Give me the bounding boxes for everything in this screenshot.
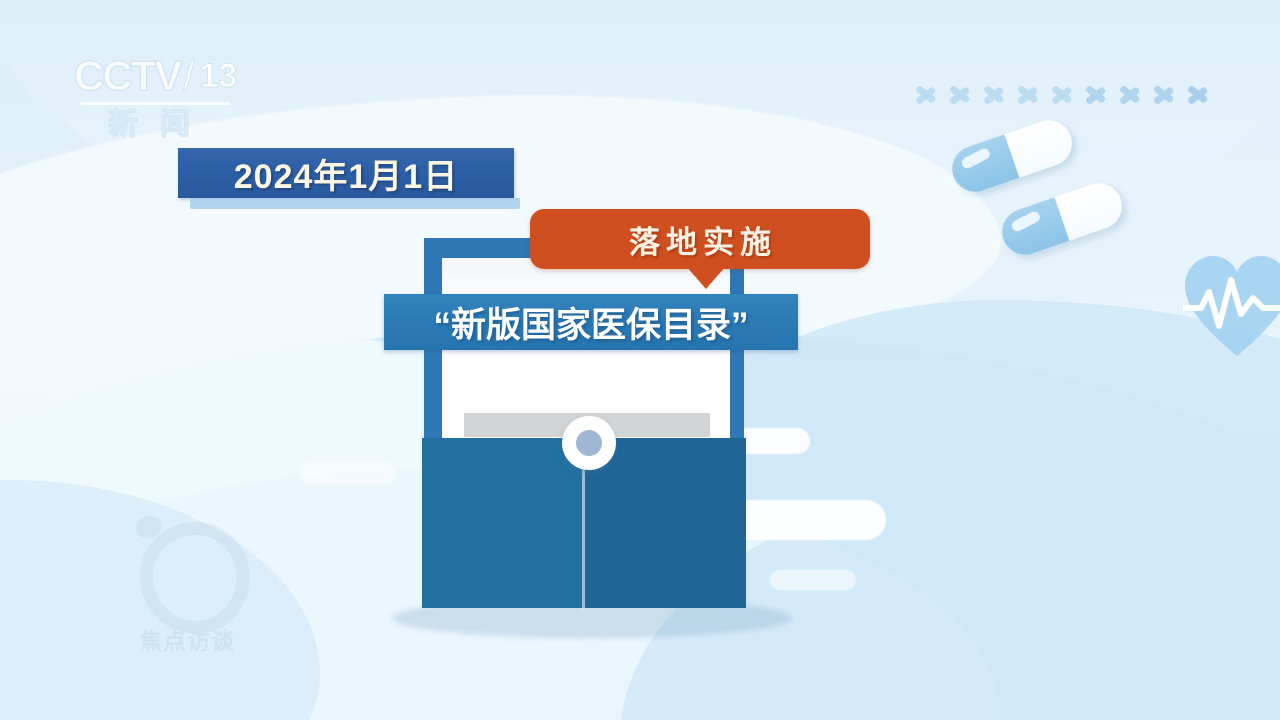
- cctv-wordmark: CCTV: [74, 53, 180, 99]
- briefcase-clasp-center: [576, 430, 602, 456]
- chevron-right-icon: [1051, 75, 1077, 115]
- cctv-slash-glyph: /: [183, 54, 194, 99]
- chevron-arrow-row: [915, 66, 1265, 124]
- date-banner-group: 2024年1月1日: [178, 148, 514, 209]
- decor-speed-pill-4: [300, 462, 396, 484]
- headline-banner: “新版国家医保目录”: [384, 294, 798, 350]
- cctv-channel-name-cn: 新闻: [108, 108, 270, 142]
- heart-ecg-svg: [1183, 252, 1280, 360]
- chevron-right-icon: [949, 75, 975, 115]
- status-badge: 落地实施: [530, 209, 870, 269]
- chevron-right-icon: [915, 75, 941, 115]
- watermark-program-name: 焦点访谈: [112, 622, 262, 656]
- briefcase-front-right-panel: [584, 438, 746, 608]
- cctv13-logo: CCTV / 13 新闻: [74, 52, 270, 144]
- chevron-right-icon: [1119, 75, 1145, 115]
- cctv-channel-number: 13: [195, 56, 241, 96]
- chevron-right-icon: [983, 75, 1009, 115]
- briefcase-illustration: [396, 230, 796, 630]
- briefcase-front-left-panel: [422, 438, 586, 608]
- status-badge-tail: [686, 266, 726, 289]
- cctv-logo-row: CCTV / 13: [74, 52, 270, 100]
- headline-text: “新版国家医保目录”: [433, 297, 748, 348]
- chevron-right-icon: [1085, 75, 1111, 115]
- program-watermark: 焦点访谈: [112, 516, 262, 666]
- chevron-right-icon: [1017, 75, 1043, 115]
- date-banner-shadow-bar: [190, 198, 520, 209]
- chevron-right-icon: [1153, 75, 1179, 115]
- news-graphic-stage: CCTV / 13 新闻 焦点访谈 2024年1月1日: [0, 0, 1280, 720]
- date-banner-text: 2024年1月1日: [234, 149, 458, 198]
- chevron-right-icon: [1187, 75, 1213, 115]
- cctv-logo-rule: [80, 102, 230, 105]
- date-banner: 2024年1月1日: [178, 148, 514, 198]
- briefcase-clasp-icon: [562, 416, 616, 470]
- status-badge-text: 落地实施: [623, 217, 777, 262]
- heart-pulse-icon: [1183, 252, 1280, 360]
